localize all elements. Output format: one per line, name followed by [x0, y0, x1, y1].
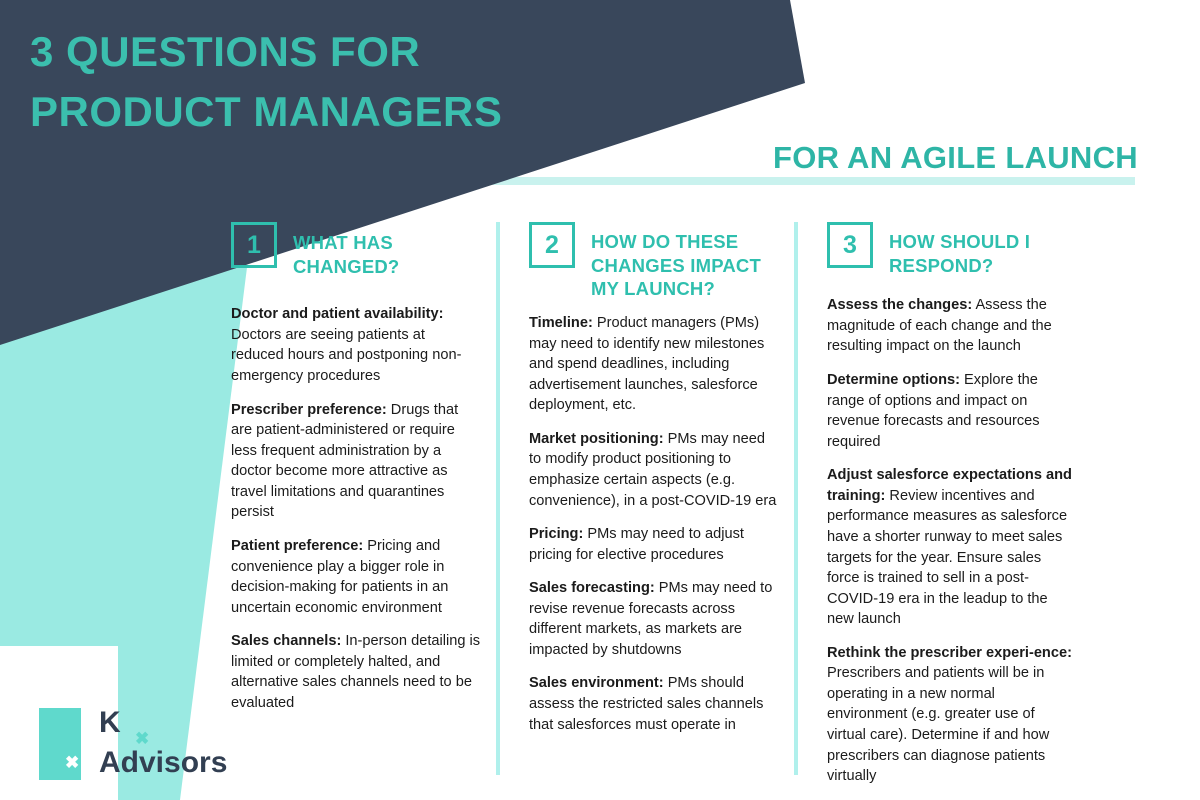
column-2-title: HOW DO THESE CHANGES IMPACT MY LAUNCH?: [591, 222, 779, 301]
item-lead: Determine options:: [827, 372, 960, 388]
list-item: Prescriber preference: Drugs that are pa…: [231, 400, 481, 523]
logo: K ✖ ✖ Advisors: [39, 708, 249, 786]
column-1-body: Doctor and patient availability: Doctors…: [231, 304, 481, 713]
list-item: Pricing: PMs may need to adjust pricing …: [529, 524, 779, 565]
list-item: Doctor and patient availability: Doctors…: [231, 304, 481, 386]
list-item: Sales forecasting: PMs may need to revis…: [529, 578, 779, 660]
item-lead: Timeline:: [529, 315, 593, 331]
logo-word-advisors: Advisors: [99, 746, 227, 780]
item-text: Doctors are seeing patients at reduced h…: [231, 327, 461, 384]
column-2-body: Timeline: Product managers (PMs) may nee…: [529, 313, 779, 735]
logo-x-white-icon: ✖: [65, 754, 79, 771]
list-item: Market positioning: PMs may need to modi…: [529, 429, 779, 511]
column-2-header: 2 HOW DO THESE CHANGES IMPACT MY LAUNCH?: [529, 222, 779, 301]
item-text: Drugs that are patient-administered or r…: [231, 402, 458, 521]
item-lead: Market positioning:: [529, 431, 664, 447]
list-item: Rethink the prescriber experi-ence: Pres…: [827, 643, 1077, 787]
item-lead: Doctor and patient availability:: [231, 306, 443, 322]
item-text: Prescribers and patients will be in oper…: [827, 665, 1049, 784]
column-3: 3 HOW SHOULD I RESPOND? Assess the chang…: [827, 222, 1077, 787]
column-1-title: WHAT HAS CHANGED?: [293, 222, 481, 278]
item-lead: Sales environment:: [529, 675, 664, 691]
columns-container: 1 WHAT HAS CHANGED? Doctor and patient a…: [0, 0, 1200, 800]
list-item: Sales environment: PMs should assess the…: [529, 673, 779, 735]
list-item: Determine options: Explore the range of …: [827, 370, 1077, 452]
list-item: Adjust salesforce expectations and train…: [827, 465, 1077, 630]
item-lead: Sales forecasting:: [529, 580, 655, 596]
list-item: Patient preference: Pricing and convenie…: [231, 536, 481, 618]
column-3-body: Assess the changes: Assess the magnitude…: [827, 295, 1077, 786]
logo-letter-k: K: [99, 706, 121, 740]
item-lead: Pricing:: [529, 526, 583, 542]
column-3-header: 3 HOW SHOULD I RESPOND?: [827, 222, 1077, 277]
list-item: Assess the changes: Assess the magnitude…: [827, 295, 1077, 357]
item-text: Review incentives and performance measur…: [827, 488, 1067, 627]
column-1-number-badge: 1: [231, 222, 277, 268]
column-3-title: HOW SHOULD I RESPOND?: [889, 222, 1077, 277]
item-lead: Prescriber preference:: [231, 402, 387, 418]
column-3-number-badge: 3: [827, 222, 873, 268]
column-1: 1 WHAT HAS CHANGED? Doctor and patient a…: [231, 222, 481, 713]
item-lead: Patient preference:: [231, 538, 363, 554]
column-1-header: 1 WHAT HAS CHANGED?: [231, 222, 481, 278]
column-2-number-badge: 2: [529, 222, 575, 268]
logo-x-teal-icon: ✖: [135, 730, 149, 747]
item-lead: Assess the changes:: [827, 297, 972, 313]
item-lead: Sales channels:: [231, 633, 341, 649]
list-item: Sales channels: In-person detailing is l…: [231, 631, 481, 713]
column-2: 2 HOW DO THESE CHANGES IMPACT MY LAUNCH?…: [529, 222, 779, 735]
item-lead: Rethink the prescriber experi-ence:: [827, 645, 1072, 661]
list-item: Timeline: Product managers (PMs) may nee…: [529, 313, 779, 416]
